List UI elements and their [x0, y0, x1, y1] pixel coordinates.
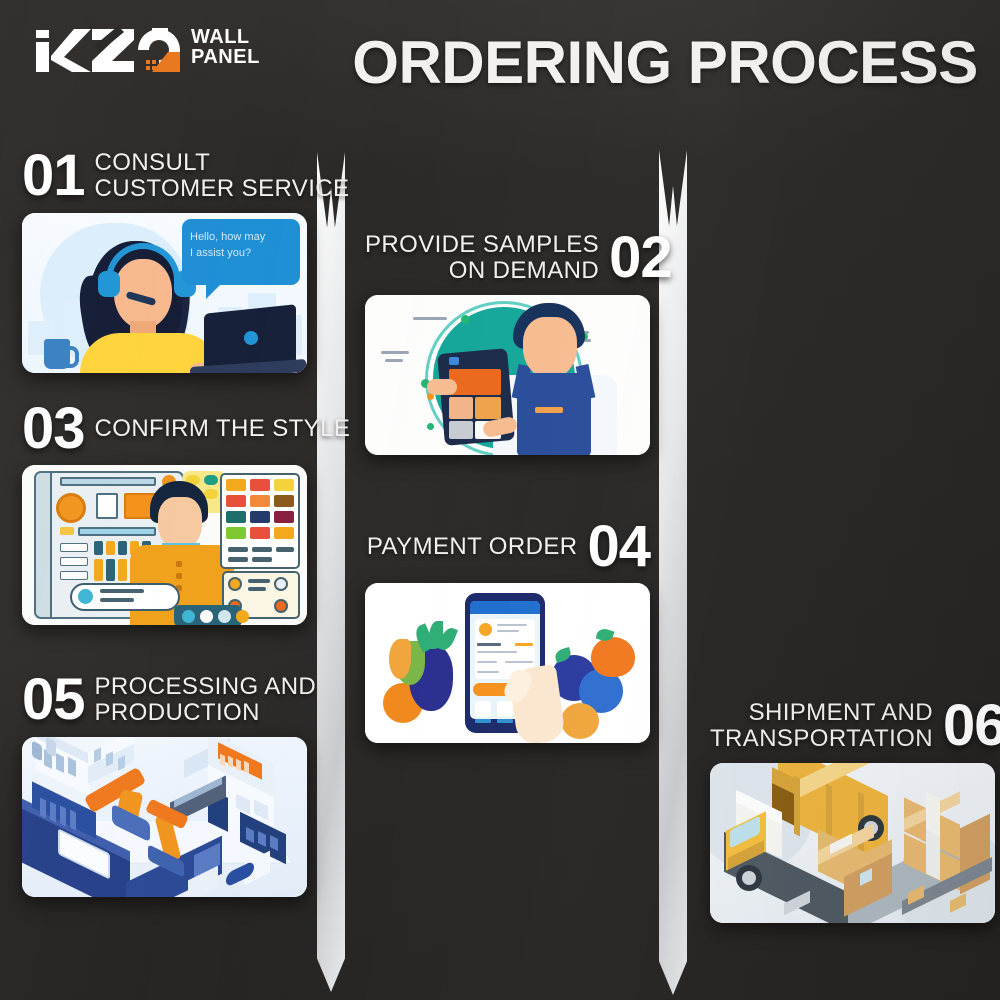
step-01: 01 CONSULT CUSTOMER SERVICE — [22, 150, 349, 373]
brand-wordmark: WALL PANEL — [191, 28, 260, 67]
step-01-number: 01 — [22, 151, 85, 201]
step-03-header: 03 CONFIRM THE STYLE — [22, 404, 350, 454]
step-02: PROVIDE SAMPLES ON DEMAND 02 — [365, 232, 672, 455]
step-04-number: 04 — [587, 522, 650, 572]
page-title: ORDERING PROCESS — [345, 28, 985, 97]
step-06: SHIPMENT AND TRANSPORTATION 06 — [710, 700, 1000, 923]
step-02-header: PROVIDE SAMPLES ON DEMAND 02 — [365, 232, 672, 284]
sample-board-worker-illustration — [365, 295, 650, 455]
step-03-label: CONFIRM THE STYLE — [95, 416, 351, 442]
brand-line-2: PANEL — [191, 48, 260, 68]
step-05-header: 05 PROCESSING AND PRODUCTION — [22, 674, 316, 726]
step-02-label: PROVIDE SAMPLES ON DEMAND — [365, 232, 599, 284]
step-03: 03 CONFIRM THE STYLE — [22, 404, 350, 625]
step-04-label: PAYMENT ORDER — [367, 534, 578, 560]
step-02-number: 02 — [609, 233, 672, 283]
step-01-header: 01 CONSULT CUSTOMER SERVICE — [22, 150, 349, 202]
mobile-payment-illustration — [365, 583, 650, 743]
step-05-number: 05 — [22, 675, 85, 725]
step-04-header: PAYMENT ORDER 04 — [365, 522, 650, 572]
truck-shipment-illustration — [710, 763, 995, 923]
kzq-logo-icon — [34, 22, 180, 74]
step-05: 05 PROCESSING AND PRODUCTION — [22, 674, 316, 897]
step-06-header: SHIPMENT AND TRANSPORTATION 06 — [710, 700, 1000, 752]
ordering-process-poster: WALL PANEL ORDERING PROCESS 01 CONSULT C… — [0, 0, 1000, 1000]
speech-bubble-text: Hello, how may I assist you? — [190, 229, 294, 262]
poster-header: WALL PANEL ORDERING PROCESS — [0, 0, 1000, 120]
step-06-number: 06 — [943, 701, 1000, 751]
step-06-label: SHIPMENT AND TRANSPORTATION — [710, 700, 933, 752]
style-selection-illustration — [22, 465, 307, 625]
brand-logo: WALL PANEL — [34, 22, 260, 74]
customer-service-illustration: Hello, how may I assist you? — [22, 213, 307, 373]
step-03-number: 03 — [22, 404, 85, 454]
step-01-label: CONSULT CUSTOMER SERVICE — [95, 150, 350, 202]
step-04: PAYMENT ORDER 04 — [365, 522, 650, 743]
factory-production-illustration — [22, 737, 307, 897]
step-05-label: PROCESSING AND PRODUCTION — [95, 674, 317, 726]
